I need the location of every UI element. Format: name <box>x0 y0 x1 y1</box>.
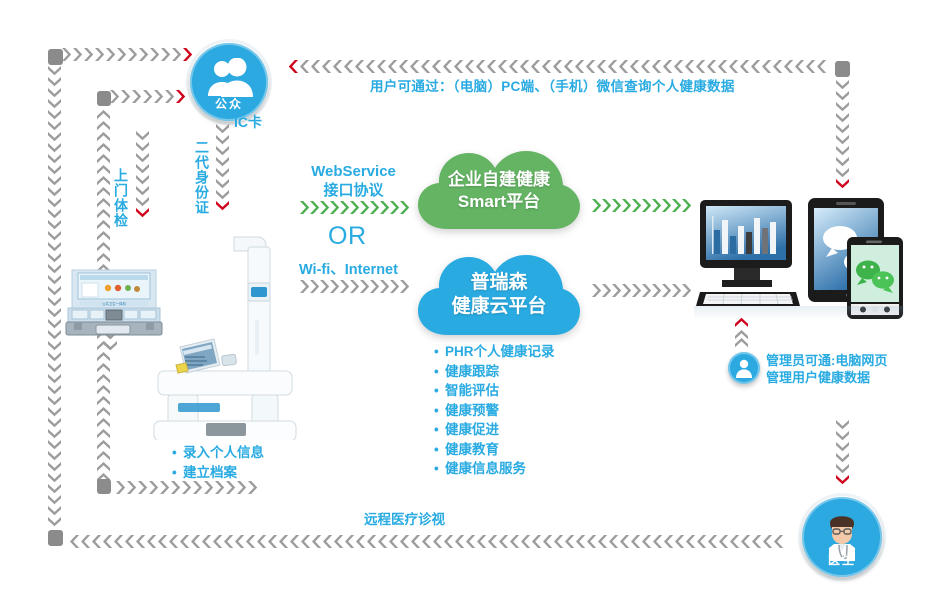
cloud-feature-list: •PHR个人健康记录 •健康跟踪 •智能评估 •健康预警 •健康促进 •健康教育… <box>434 342 555 479</box>
bullet-dot: • <box>172 443 183 463</box>
cloud-enterprise-line1: 企业自建健康 <box>414 169 584 191</box>
svg-text:公共卫生一体机: 公共卫生一体机 <box>102 301 126 306</box>
protocol-line2: 接口协议 <box>296 181 411 200</box>
list-item: •智能评估 <box>434 381 555 401</box>
role-badge-admin[interactable] <box>728 352 760 384</box>
list-item-label: 健康教育 <box>445 442 499 457</box>
diagram-canvas: 公众 医生 管理员可通:电脑网页 管理用户健康数据 用户可通过：（电脑）PC端、… <box>0 0 925 603</box>
admin-person-icon <box>733 357 755 379</box>
bullet-dot: • <box>172 463 183 483</box>
device-reflection <box>694 306 904 320</box>
list-item-label: 健康跟踪 <box>445 364 499 379</box>
list-item-label: 健康促进 <box>445 422 499 437</box>
bottom-flow-label: 远程医疗诊视 <box>364 508 445 528</box>
list-item-label: 健康信息服务 <box>445 461 526 476</box>
list-item: •健康促进 <box>434 420 555 440</box>
top-flow-label: 用户可通过：（电脑）PC端、（手机）微信查询个人健康数据 <box>370 75 735 95</box>
list-item: •健康教育 <box>434 440 555 460</box>
list-item-label: 录入个人信息 <box>183 445 264 460</box>
list-item: •建立档案 <box>172 463 264 483</box>
role-badge-doctor[interactable]: 医生 <box>802 497 882 577</box>
bullet-dot: • <box>434 381 445 401</box>
kiosk-feature-list: •录入个人信息 •建立档案 <box>172 443 264 482</box>
cloud-prison-text: 普瑞森 健康云平台 <box>414 267 584 319</box>
monitor-icon <box>694 198 802 308</box>
admin-note: 管理员可通:电脑网页 管理用户健康数据 <box>766 352 887 386</box>
list-item: •健康跟踪 <box>434 362 555 382</box>
list-item-label: 健康预警 <box>445 403 499 418</box>
protocol-block: WebService 接口协议 <box>296 162 411 200</box>
cloud-prison-line1: 普瑞森 <box>414 271 584 295</box>
bullet-dot: • <box>434 459 445 479</box>
admin-note-line2: 管理用户健康数据 <box>766 369 887 386</box>
cloud-enterprise-line2: Smart平台 <box>414 191 584 213</box>
list-item: •健康预警 <box>434 401 555 421</box>
bullet-dot: • <box>434 342 445 362</box>
label-id-card: 二代身份证 <box>193 140 210 215</box>
list-item: •PHR个人健康记录 <box>434 342 555 362</box>
list-item: •健康信息服务 <box>434 459 555 479</box>
cloud-prison-line2: 健康云平台 <box>414 295 584 319</box>
protocol-line3: Wi-fi、Internet <box>299 258 398 279</box>
bullet-dot: • <box>434 401 445 421</box>
list-item-label: 智能评估 <box>445 383 499 398</box>
cloud-enterprise[interactable]: 企业自建健康 Smart平台 <box>414 143 584 233</box>
admin-note-line1: 管理员可通:电脑网页 <box>766 352 887 369</box>
label-home-visit: 上门体检 <box>112 168 129 228</box>
device-desktop-monitor[interactable] <box>694 198 802 308</box>
bullet-dot: • <box>434 362 445 382</box>
bullet-dot: • <box>434 420 445 440</box>
role-badge-public[interactable]: 公众 <box>190 43 268 121</box>
kiosk-icon <box>144 225 304 440</box>
cloud-prison[interactable]: 普瑞森 健康云平台 <box>414 245 584 341</box>
device-health-check-kiosk[interactable] <box>144 225 304 440</box>
protocol-line1: WebService <box>296 162 411 181</box>
role-badge-public-label: 公众 <box>190 95 268 112</box>
users-icon <box>204 58 254 100</box>
list-item: •录入个人信息 <box>172 443 264 463</box>
label-ic-card: IC卡 <box>234 112 262 132</box>
bullet-dot: • <box>434 440 445 460</box>
cloud-enterprise-text: 企业自建健康 Smart平台 <box>414 163 584 213</box>
list-item-label: PHR个人健康记录 <box>445 344 555 359</box>
protocol-or: OR <box>328 222 367 251</box>
role-badge-doctor-label: 医生 <box>802 551 882 568</box>
list-item-label: 建立档案 <box>183 465 237 480</box>
